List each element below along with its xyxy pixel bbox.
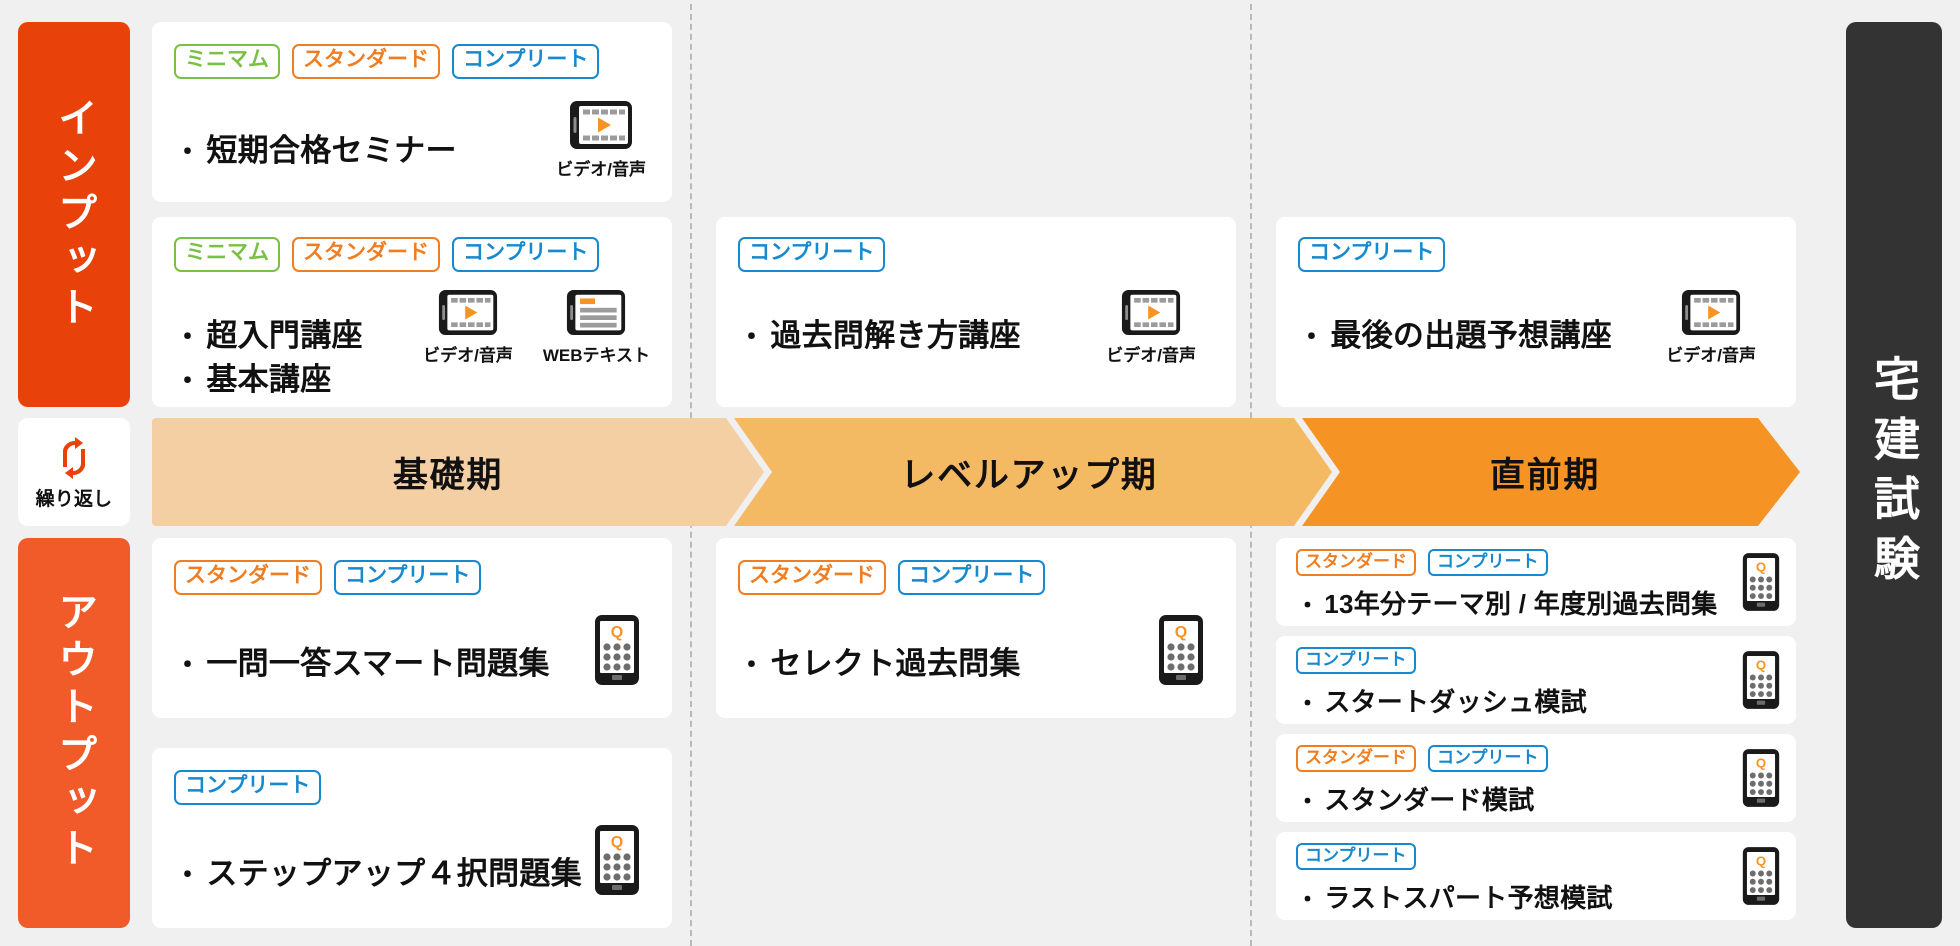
rail-exam: 宅建試験 [1846,22,1942,928]
card-item: ・ 短期合格セミナー [174,125,457,170]
bullet-dot: ・ [738,652,765,679]
chip-standard: スタンダード [292,237,440,272]
phase-timeline: 基礎期 レベルアップ期 直前期 [152,418,1800,526]
bullet-dot: ・ [1296,594,1319,617]
chip-complete: コンプリート [1428,745,1548,772]
phase-kiso[interactable]: 基礎期 [152,418,764,526]
svg-text:Q: Q [1756,657,1766,672]
rail-exam-label: 宅建試験 [1861,355,1927,594]
media-group: ビデオ/音声 WEBテキスト [423,289,650,366]
video-audio-icon [1121,289,1181,336]
chip-complete: コンプリート [452,44,599,79]
media-label: WEBテキスト [543,341,650,366]
bullet-dot: ・ [174,324,201,351]
media-video: ビデオ/音声 [423,289,513,366]
chip-row: ミニマム スタンダード コンプリート [174,237,599,272]
card-ichimon-ittou[interactable]: スタンダード コンプリート ・ 一問一答スマート問題集 Q [152,538,672,718]
card-item-label: 基本講座 [206,354,331,399]
quiz-smartphone-icon: Q [594,824,640,896]
chip-complete: コンプリート [1428,549,1548,576]
card-item-label: 過去問解き方講座 [770,310,1020,355]
web-text-icon [566,289,626,336]
card-item: ・ スタートダッシュ模試 [1296,682,1587,719]
bullet-dot: ・ [738,324,765,351]
chip-standard: スタンダード [1296,745,1416,772]
card-item-label: 13年分テーマ別 / 年度別過去問集 [1324,584,1717,621]
media-label: ビデオ/音声 [1666,341,1756,366]
chip-standard: スタンダード [174,560,322,595]
card-item-label: スタートダッシュ模試 [1324,682,1587,719]
chip-complete: コンプリート [898,560,1045,595]
card-chonyumon-kihon[interactable]: ミニマム スタンダード コンプリート ・ 超入門講座 ・ 基本講座 [152,217,672,407]
card-item-label: 短期合格セミナー [206,125,456,170]
card-item-label: 超入門講座 [206,310,363,355]
chip-minimum: ミニマム [174,237,280,272]
card-item-label: ラストスパート予想模試 [1324,878,1612,915]
card-13nen-kakomon[interactable]: スタンダード コンプリート ・ 13年分テーマ別 / 年度別過去問集 Q [1276,538,1796,626]
svg-text:Q: Q [1756,755,1766,770]
phase-label: レベルアップ期 [900,447,1157,498]
chip-row: コンプリート [174,770,321,805]
media-video: ビデオ/音声 [1666,289,1756,366]
rail-input: インプット [18,22,130,407]
bullet-dot: ・ [1296,692,1319,715]
bullet-dot: ・ [1298,324,1325,351]
chip-complete: コンプリート [452,237,599,272]
bullet-dot: ・ [174,862,201,889]
card-standard-moshi[interactable]: スタンダード コンプリート ・ スタンダード模試 Q [1276,734,1796,822]
card-kakomon-tokikata[interactable]: コンプリート ・ 過去問解き方講座 [716,217,1236,407]
card-item: ・ 13年分テーマ別 / 年度別過去問集 [1296,584,1718,621]
bullet-dot: ・ [174,368,201,395]
bullet-dot: ・ [1296,790,1319,813]
media-group: ビデオ/音声 [556,100,646,180]
card-step-up[interactable]: コンプリート ・ ステップアップ４択問題集 Q [152,748,672,928]
video-audio-icon [438,289,498,336]
repeat-badge: 繰り返し [18,418,130,526]
quiz-smartphone-icon: Q [1742,552,1780,612]
chip-row: コンプリート [1296,843,1416,870]
phase-chokuzen[interactable]: 直前期 [1302,418,1800,526]
chip-complete: コンプリート [334,560,481,595]
card-item-label: 一問一答スマート問題集 [206,638,549,683]
bullet-dot: ・ [174,139,201,166]
chip-complete: コンプリート [174,770,321,805]
card-item: ・ セレクト過去問集 [738,638,1021,683]
quiz-smartphone-icon: Q [594,614,640,686]
card-item: ・ 基本講座 [174,354,332,399]
card-item: ・ ラストスパート予想模試 [1296,878,1613,915]
card-item: ・ スタンダード模試 [1296,780,1534,817]
chip-row: ミニマム スタンダード コンプリート [174,44,599,79]
chip-row: スタンダード コンプリート [174,560,481,595]
chip-complete: コンプリート [1296,843,1416,870]
card-item-label: セレクト過去問集 [770,638,1020,683]
card-item: ・ 最後の出題予想講座 [1298,310,1612,355]
card-item-label: 最後の出題予想講座 [1330,310,1612,355]
chip-row: コンプリート [1296,647,1416,674]
rail-output-label: アウトプット [45,591,103,874]
chip-row: コンプリート [1298,237,1445,272]
bullet-dot: ・ [174,652,201,679]
chip-complete: コンプリート [1298,237,1445,272]
media-video: ビデオ/音声 [1106,289,1196,366]
svg-text:Q: Q [611,834,623,851]
repeat-label: 繰り返し [36,484,113,511]
chip-complete: コンプリート [1296,647,1416,674]
chip-minimum: ミニマム [174,44,280,79]
svg-text:Q: Q [611,624,623,641]
phase-levelup[interactable]: レベルアップ期 [734,418,1332,526]
card-last-spurt[interactable]: コンプリート ・ ラストスパート予想模試 Q [1276,832,1796,920]
chip-row: スタンダード コンプリート [738,560,1045,595]
svg-text:Q: Q [1756,559,1766,574]
card-item: ・ 一問一答スマート問題集 [174,638,550,683]
chip-complete: コンプリート [738,237,885,272]
media-group: ビデオ/音声 [1106,289,1196,366]
chip-row: スタンダード コンプリート [1296,549,1548,576]
media-webtext: WEBテキスト [543,289,650,366]
video-audio-icon [1681,289,1741,336]
media-video: ビデオ/音声 [556,100,646,180]
card-item: ・ 超入門講座 [174,310,363,355]
card-item: ・ 過去問解き方講座 [738,310,1021,355]
svg-text:Q: Q [1175,624,1187,641]
repeat-cycle-icon [50,434,98,482]
card-select-kakomon[interactable]: スタンダード コンプリート ・ セレクト過去問集 Q [716,538,1236,718]
chip-row: コンプリート [738,237,885,272]
quiz-smartphone-icon: Q [1742,846,1780,906]
quiz-smartphone-icon: Q [1158,614,1204,686]
media-label: ビデオ/音声 [423,341,513,366]
bullet-dot: ・ [1296,888,1319,911]
chip-standard: スタンダード [738,560,886,595]
phase-label: 直前期 [1490,447,1600,498]
card-saigo-shutsudai[interactable]: コンプリート ・ 最後の出題予想講座 [1276,217,1796,407]
svg-text:Q: Q [1756,853,1766,868]
card-start-dash[interactable]: コンプリート ・ スタートダッシュ模試 Q [1276,636,1796,724]
media-group: ビデオ/音声 [1666,289,1756,366]
rail-output: アウトプット [18,538,130,928]
media-label: ビデオ/音声 [1106,341,1196,366]
chip-row: スタンダード コンプリート [1296,745,1548,772]
card-item-label: スタンダード模試 [1324,780,1534,817]
chip-standard: スタンダード [292,44,440,79]
chip-standard: スタンダード [1296,549,1416,576]
card-item: ・ ステップアップ４択問題集 [174,848,582,893]
curriculum-diagram: インプット 繰り返し アウトプット ミニマム スタンダード コンプリート ・ 短… [0,0,1960,946]
phase-label: 基礎期 [393,447,503,498]
video-audio-icon [569,100,633,150]
media-label: ビデオ/音声 [556,155,646,180]
rail-input-label: インプット [45,97,103,333]
quiz-smartphone-icon: Q [1742,650,1780,710]
card-item-label: ステップアップ４択問題集 [206,848,582,893]
quiz-smartphone-icon: Q [1742,748,1780,808]
card-tanki-goukaku[interactable]: ミニマム スタンダード コンプリート ・ 短期合格セミナー [152,22,672,202]
